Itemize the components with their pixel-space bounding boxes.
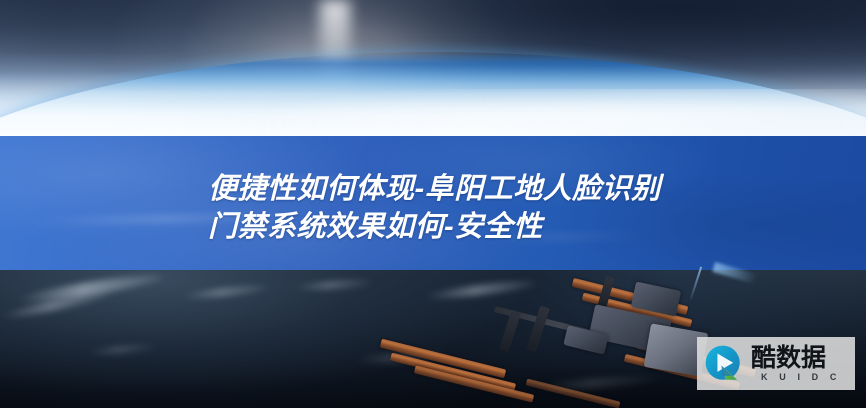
watermark-text: 酷数据 K U I D C	[751, 345, 849, 383]
brand-name-cn: 酷数据	[751, 345, 849, 371]
cloud	[294, 278, 372, 291]
station-antenna	[690, 267, 702, 300]
station-radiator	[499, 309, 521, 352]
solar-panel	[526, 378, 621, 408]
play-circle-icon	[703, 343, 745, 385]
watermark-logo: 酷数据 K U I D C	[697, 337, 855, 390]
cloud-haze	[0, 89, 866, 137]
promo-banner: 便捷性如何体现-阜阳工地人脸识别 门禁系统效果如何-安全性	[0, 0, 866, 408]
banner-title: 便捷性如何体现-阜阳工地人脸识别 门禁系统效果如何-安全性	[208, 170, 848, 246]
cloud	[86, 343, 156, 356]
brand-name-en: K U I D C	[751, 371, 849, 383]
station-radiator	[526, 306, 550, 353]
sky-background	[0, 0, 866, 137]
cloud	[182, 283, 269, 300]
